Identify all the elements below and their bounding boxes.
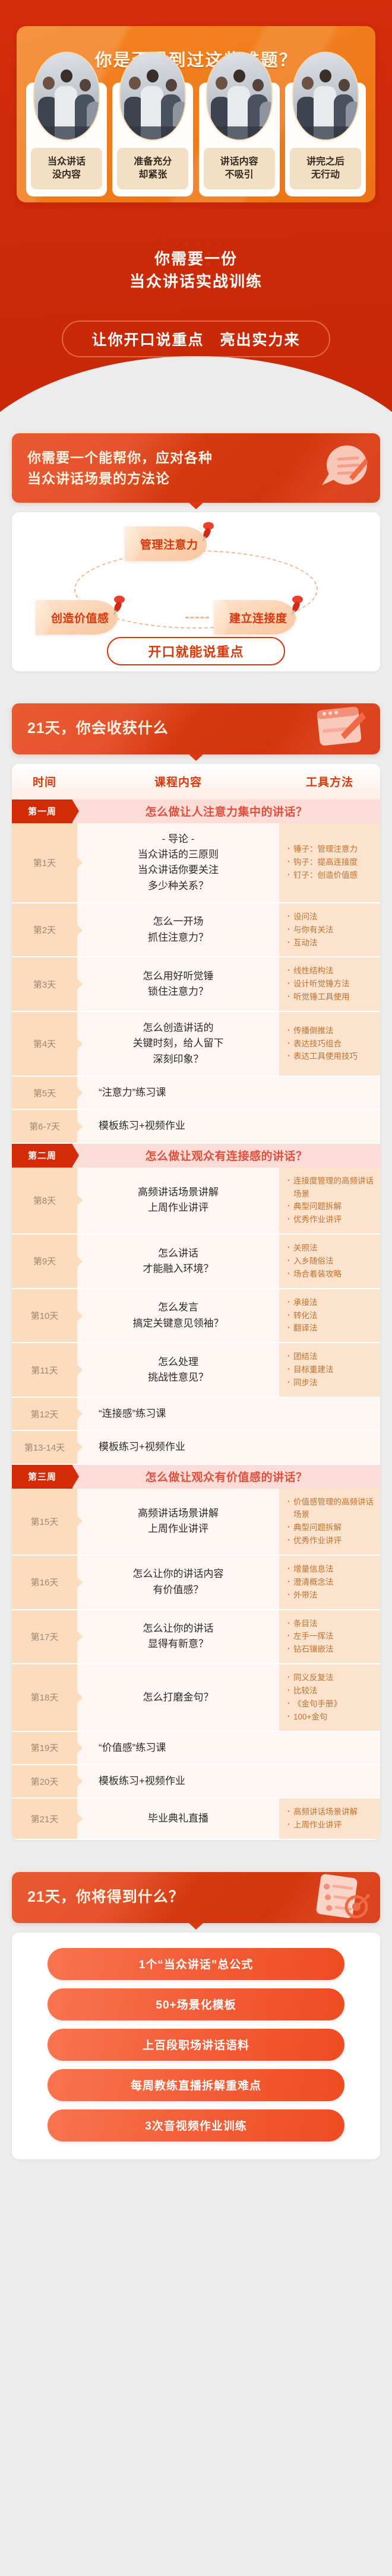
method-node-build-connection: 建立连接度 <box>214 600 296 635</box>
problem-photo <box>206 52 273 141</box>
schedule-content-cell: 高频讲话场景讲解上周作业讲评 <box>77 1489 279 1555</box>
schedule-row: 第12天“连接感”练习课 <box>12 1398 380 1431</box>
column-header-tools: 工具方法 <box>306 776 353 789</box>
gain-panel: 1个“当众讲话”总公式50+场景化模板上百段职场讲话语料每周教练直播拆解重难点3… <box>12 1933 380 2159</box>
benefit-item: 每周教练直播拆解重难点 <box>48 2069 344 2101</box>
tool-item: 澄清概念法 <box>287 1576 374 1589</box>
tool-item: 转化法 <box>287 1309 374 1322</box>
problem-card: 你是否遇到过这些难题？ 当众讲话没内容准备充分却紧张讲话内容不吸引讲完之后无行动 <box>17 26 375 202</box>
tool-item: 典型问题拆解 <box>287 1521 374 1534</box>
schedule-table: 时间 课程内容 工具方法 第一周怎么做让人注意力集中的讲话？第1天- 导论 -当… <box>12 764 380 1841</box>
schedule-content-line: 怎么处理 <box>148 1354 208 1370</box>
schedule-day-cell: 第15天 <box>12 1489 77 1555</box>
column-header-time: 时间 <box>33 776 56 789</box>
schedule-content-line: 怎么打磨金句？ <box>143 1690 214 1705</box>
method-node-label: 管理注意力 <box>140 536 198 552</box>
tool-item: 翻译法 <box>287 1322 374 1335</box>
benefit-list: 1个“当众讲话”总公式50+场景化模板上百段职场讲话语料每周教练直播拆解重难点3… <box>12 1933 380 2159</box>
problem-label-line1: 讲话内容 <box>220 156 258 169</box>
hero-headline-line1: 你需要一份 <box>0 248 392 271</box>
schedule-content-line: 模板练习+视频作业 <box>99 1439 185 1455</box>
schedule-tools-cell <box>279 1077 380 1109</box>
method-banner-line1: 你需要一个能帮你，应对各种 <box>27 450 213 465</box>
schedule-content-cell: 怎么创造讲话的关键时刻，给人留下深刻印象？ <box>77 1012 279 1076</box>
schedule-row: 第13-14天模板练习+视频作业 <box>12 1431 380 1464</box>
schedule-content-line: 怎么让你的讲话 <box>143 1621 214 1636</box>
schedule-tools-cell: 增量信息法澄清概念法外带法 <box>279 1556 380 1609</box>
schedule-section: 21天，你会收获什么 时间 课程内容 工具方法 第一周怎么做让人注意力集中的讲话… <box>0 686 392 1854</box>
tool-item: 优秀作业讲评 <box>287 1534 374 1547</box>
benefit-item: 3次音视频作业训练 <box>48 2109 344 2142</box>
schedule-tools-cell: 承接法转化法翻译法 <box>279 1289 380 1343</box>
schedule-row: 第9天怎么讲话才能融入环境？关照法入乡随俗法场合着装攻略 <box>12 1235 380 1289</box>
tool-item: 目标重建法 <box>287 1363 374 1376</box>
schedule-table-body: 第一周怎么做让人注意力集中的讲话？第1天- 导论 -当众讲话的三原则当众讲话你要… <box>12 800 380 1841</box>
tool-item: 条目法 <box>287 1617 374 1630</box>
schedule-content-line: 搞定关键意见领袖？ <box>133 1316 224 1331</box>
schedule-tools-cell: 团结法目标重建法同步法 <box>279 1343 380 1397</box>
tool-item: 关照法 <box>287 1242 374 1255</box>
hero-section: 你是否遇到过这些难题？ 当众讲话没内容准备充分却紧张讲话内容不吸引讲完之后无行动… <box>0 0 392 415</box>
method-node-manage-attention: 管理注意力 <box>125 526 207 561</box>
schedule-content-cell: “价值感”练习课 <box>77 1732 279 1764</box>
problem-label: 讲话内容不吸引 <box>204 148 275 189</box>
tool-item: 钉子：创造价值感 <box>287 869 374 882</box>
schedule-day-cell: 第12天 <box>12 1398 77 1430</box>
schedule-content-line: 关键时刻，给人留下 <box>133 1036 224 1051</box>
schedule-day-cell: 第6-7天 <box>12 1110 77 1142</box>
schedule-content-line: “注意力”练习课 <box>99 1085 166 1100</box>
tool-item: 价值感管理的高频讲话场景 <box>287 1496 374 1522</box>
week-header-row: 第三周怎么做让观众有价值感的讲话？ <box>12 1465 380 1489</box>
schedule-content-cell: 怎么讲话才能融入环境？ <box>77 1235 279 1288</box>
tool-item: 设问法 <box>287 911 374 924</box>
method-panel: 管理注意力 创造价值感 <box>12 512 380 671</box>
schedule-tools-cell <box>279 1732 380 1764</box>
tool-item: 增量信息法 <box>287 1563 374 1576</box>
schedule-content-line: 毕业典礼直播 <box>148 1811 208 1826</box>
tool-item: 场合着装攻略 <box>287 1268 374 1281</box>
schedule-content-line: 怎么一开场 <box>148 914 208 929</box>
schedule-content-cell: 模板练习+视频作业 <box>77 1765 279 1797</box>
schedule-content-cell: - 导论 -当众讲话的三原则当众讲话你要关注多少种关系？ <box>77 823 279 902</box>
tool-item: 团结法 <box>287 1350 374 1363</box>
problem-label-line2: 却紧张 <box>138 169 167 182</box>
column-header-content: 课程内容 <box>154 776 202 789</box>
schedule-row: 第8天高频讲话场景讲解上周作业讲评连接度管理的高频讲话场景典型问题拆解优秀作业讲… <box>12 1168 380 1235</box>
schedule-row: 第10天怎么发言搞定关键意见领袖？承接法转化法翻译法 <box>12 1289 380 1344</box>
schedule-row: 第2天怎么一开场抓住注意力？设问法与你有关法互动法 <box>12 903 380 958</box>
problem-label: 准备充分却紧张 <box>117 148 188 189</box>
week-title: 怎么做让人注意力集中的讲话？ <box>72 800 380 823</box>
schedule-tools-cell <box>279 1765 380 1797</box>
tool-item: 互动法 <box>287 937 374 950</box>
pin-icon <box>200 522 215 542</box>
schedule-content-line: 怎么创造讲话的 <box>133 1020 224 1036</box>
schedule-day-cell: 第13-14天 <box>12 1431 77 1463</box>
schedule-row: 第15天高频讲话场景讲解上周作业讲评价值感管理的高频讲话场景典型问题拆解优秀作业… <box>12 1489 380 1556</box>
week-title: 怎么做让观众有价值感的讲话？ <box>72 1465 380 1489</box>
schedule-content-cell: “注意力”练习课 <box>77 1077 279 1109</box>
schedule-banner-title: 21天，你会收获什么 <box>27 720 169 737</box>
problem-item: 准备充分却紧张 <box>112 83 193 196</box>
method-node-label: 建立连接度 <box>229 610 287 626</box>
gain-banner-title: 21天，你将得到什么？ <box>27 1889 184 1905</box>
tool-item: 左手一挥法 <box>287 1630 374 1643</box>
schedule-content-line: - 导论 - <box>138 832 219 847</box>
tool-item: 锤子：管理注意力 <box>287 843 374 856</box>
schedule-row: 第6-7天模板练习+视频作业 <box>12 1110 380 1143</box>
schedule-tools-cell <box>279 1110 380 1142</box>
schedule-content-line: 上周作业讲评 <box>138 1200 219 1216</box>
schedule-day-cell: 第3天 <box>12 957 77 1011</box>
schedule-content-line: 模板练习+视频作业 <box>99 1774 185 1789</box>
schedule-day-cell: 第17天 <box>12 1610 77 1664</box>
problem-label-line2: 不吸引 <box>225 169 254 182</box>
problem-label: 讲完之后无行动 <box>290 148 361 189</box>
triangle-dashed-connector <box>185 617 209 618</box>
schedule-content-line: 怎么讲话 <box>143 1246 214 1261</box>
schedule-day-cell: 第11天 <box>12 1343 77 1397</box>
tool-item: 100+金句 <box>287 1711 374 1724</box>
tool-item: 线性结构法 <box>287 965 374 978</box>
tool-item: 传播倒推法 <box>287 1024 374 1038</box>
schedule-tools-cell <box>279 1431 380 1463</box>
schedule-tools-cell: 高频讲话场景讲解上周作业讲评 <box>279 1798 380 1839</box>
week-tag: 第二周 <box>12 1144 72 1168</box>
banner-pointer <box>188 502 204 509</box>
schedule-content-cell: 毕业典礼直播 <box>77 1798 279 1839</box>
schedule-content-line: 怎么让你的讲话内容 <box>133 1566 224 1582</box>
schedule-content-line: 高频讲话场景讲解 <box>138 1185 219 1200</box>
tool-item: 连接度管理的高频讲话场景 <box>287 1175 374 1201</box>
schedule-content-cell: 高频讲话场景讲解上周作业讲评 <box>77 1168 279 1233</box>
tool-item: 入乡随俗法 <box>287 1255 374 1268</box>
schedule-content-cell: 怎么用好听觉锤锁住注意力？ <box>77 957 279 1011</box>
schedule-day-cell: 第4天 <box>12 1012 77 1076</box>
problem-label-line1: 准备充分 <box>134 156 172 169</box>
schedule-content-line: “价值感”练习课 <box>99 1740 166 1756</box>
method-section: 你需要一个能帮你，应对各种 当众讲话场景的方法论 管理注意力 <box>0 415 392 686</box>
tool-item: 钻石镶嵌法 <box>287 1643 374 1656</box>
pin-icon <box>110 595 126 616</box>
problem-label: 当众讲话没内容 <box>31 148 102 189</box>
schedule-tools-cell: 锤子：管理注意力钩子：提高连接度钉子：创造价值感 <box>279 823 380 902</box>
schedule-row: 第3天怎么用好听觉锤锁住注意力？线性结构法设计听觉锤方法听觉锤工具使用 <box>12 957 380 1012</box>
benefit-item: 1个“当众讲话”总公式 <box>48 1948 344 1980</box>
problem-item-list: 当众讲话没内容准备充分却紧张讲话内容不吸引讲完之后无行动 <box>26 83 366 196</box>
schedule-row: 第20天模板练习+视频作业 <box>12 1765 380 1798</box>
problem-item: 当众讲话没内容 <box>26 83 107 196</box>
problem-photo <box>33 52 100 141</box>
schedule-banner: 21天，你会收获什么 <box>12 703 380 754</box>
week-tag: 第三周 <box>12 1465 72 1489</box>
schedule-content-cell: “连接感”练习课 <box>77 1398 279 1430</box>
problem-item: 讲话内容不吸引 <box>199 83 280 196</box>
notebook-pencil-icon <box>311 702 371 755</box>
problem-photo <box>119 52 186 141</box>
schedule-row: 第11天怎么处理挑战性意见？团结法目标重建法同步法 <box>12 1343 380 1398</box>
schedule-content-line: 模板练习+视频作业 <box>99 1118 185 1134</box>
schedule-tools-cell: 连接度管理的高频讲话场景典型问题拆解优秀作业讲评 <box>279 1168 380 1233</box>
schedule-content-line: 才能融入环境？ <box>143 1261 214 1277</box>
checklist-target-icon <box>309 1871 371 1924</box>
schedule-row: 第16天怎么让你的讲话内容有价值感？增量信息法澄清概念法外带法 <box>12 1556 380 1610</box>
tool-item: 同步法 <box>287 1376 374 1389</box>
schedule-content-cell: 怎么让你的讲话内容有价值感？ <box>77 1556 279 1609</box>
tool-item: 承接法 <box>287 1296 374 1309</box>
method-cta: 开口就能说重点 <box>107 637 285 665</box>
problem-label-line2: 没内容 <box>52 169 81 182</box>
schedule-content-cell: 怎么一开场抓住注意力？ <box>77 903 279 957</box>
problem-item: 讲完之后无行动 <box>285 83 366 196</box>
schedule-content-line: “连接感”练习课 <box>99 1406 166 1422</box>
tool-item: 优秀作业讲评 <box>287 1213 374 1226</box>
tool-item: 外带法 <box>287 1589 374 1602</box>
problem-label-line2: 无行动 <box>311 169 340 182</box>
tool-item: 上周作业讲评 <box>287 1819 374 1832</box>
gain-section: 21天，你将得到什么？ 1个“当众讲话”总公式 <box>0 1854 392 2187</box>
schedule-content-cell: 怎么处理挑战性意见？ <box>77 1343 279 1397</box>
schedule-table-header: 时间 课程内容 工具方法 <box>12 764 380 800</box>
schedule-content-line: 挑战性意见？ <box>148 1370 208 1385</box>
hero-slogan-pill: 让你开口说重点 亮出实力来 <box>62 321 330 357</box>
tool-item: 听觉锤工具使用 <box>287 991 374 1004</box>
schedule-content-cell: 模板练习+视频作业 <box>77 1110 279 1142</box>
schedule-day-cell: 第19天 <box>12 1732 77 1764</box>
hero-bottom-curve <box>0 356 392 415</box>
tool-item: 与你有关法 <box>287 924 374 937</box>
schedule-content-line: 显得有新意？ <box>143 1636 214 1652</box>
schedule-content-cell: 模板练习+视频作业 <box>77 1431 279 1463</box>
schedule-day-cell: 第16天 <box>12 1556 77 1609</box>
method-node-create-value: 创造价值感 <box>36 600 118 635</box>
tool-item: 比较法 <box>287 1684 374 1698</box>
schedule-day-cell: 第1天 <box>12 823 77 902</box>
week-tag: 第一周 <box>12 800 72 823</box>
banner-pointer <box>188 754 204 761</box>
schedule-tools-cell: 关照法入乡随俗法场合着装攻略 <box>279 1235 380 1288</box>
schedule-content-cell: 怎么发言搞定关键意见领袖？ <box>77 1289 279 1343</box>
banner-pointer <box>188 1923 204 1930</box>
method-node-label: 创造价值感 <box>51 610 109 626</box>
schedule-content-line: 锁住注意力？ <box>143 984 214 1000</box>
tool-item: 钩子：提高连接度 <box>287 856 374 869</box>
week-title: 怎么做让观众有连接感的讲话？ <box>72 1144 380 1168</box>
schedule-tools-cell: 价值感管理的高频讲话场景典型问题拆解优秀作业讲评 <box>279 1489 380 1555</box>
week-header-row: 第一周怎么做让人注意力集中的讲话？ <box>12 800 380 823</box>
hero-headline: 你需要一份 当众讲话实战训练 <box>0 248 392 293</box>
schedule-row: 第5天“注意力”练习课 <box>12 1077 380 1110</box>
benefit-item: 上百段职场讲话语料 <box>48 2029 344 2061</box>
problem-photo <box>292 52 359 141</box>
schedule-row: 第18天怎么打磨金句？同义反复法比较法《金句手册》100+金句 <box>12 1664 380 1731</box>
tool-item: 表达技巧组合 <box>287 1038 374 1051</box>
schedule-content-line: 高频讲话场景讲解 <box>138 1506 219 1521</box>
schedule-tools-cell: 设问法与你有关法互动法 <box>279 903 380 957</box>
schedule-day-cell: 第20天 <box>12 1765 77 1797</box>
schedule-day-cell: 第18天 <box>12 1664 77 1730</box>
schedule-content-line: 抓住注意力？ <box>148 930 208 946</box>
schedule-row: 第4天怎么创造讲话的关键时刻，给人留下深刻印象？传播倒推法表达技巧组合表达工具使… <box>12 1012 380 1077</box>
problem-label-line1: 讲完之后 <box>306 156 344 169</box>
schedule-day-cell: 第10天 <box>12 1289 77 1343</box>
tool-item: 设计听觉锤方法 <box>287 978 374 991</box>
gain-banner: 21天，你将得到什么？ <box>12 1872 380 1923</box>
tool-item: 高频讲话场景讲解 <box>287 1806 374 1819</box>
schedule-content-cell: 怎么打磨金句？ <box>77 1664 279 1730</box>
tool-item: 《金句手册》 <box>287 1698 374 1711</box>
schedule-content-line: 有价值感？ <box>133 1582 224 1598</box>
schedule-tools-cell: 条目法左手一挥法钻石镶嵌法 <box>279 1610 380 1664</box>
schedule-tools-cell: 线性结构法设计听觉锤方法听觉锤工具使用 <box>279 957 380 1011</box>
pin-icon <box>289 595 304 616</box>
schedule-content-line: 深刻印象？ <box>133 1052 224 1067</box>
benefit-item: 50+场景化模板 <box>48 1988 344 2020</box>
method-triangle-diagram: 管理注意力 创造价值感 <box>12 512 380 671</box>
week-header-row: 第二周怎么做让观众有连接感的讲话？ <box>12 1144 380 1168</box>
tool-item: 典型问题拆解 <box>287 1200 374 1213</box>
schedule-tools-cell <box>279 1398 380 1430</box>
schedule-day-cell: 第5天 <box>12 1077 77 1109</box>
schedule-content-line: 当众讲话的三原则 <box>138 847 219 862</box>
schedule-content-cell: 怎么让你的讲话显得有新意？ <box>77 1610 279 1664</box>
schedule-content-line: 当众讲话你要关注 <box>138 862 219 878</box>
schedule-row: 第19天“价值感”练习课 <box>12 1732 380 1765</box>
tool-item: 表达工具使用技巧 <box>287 1050 374 1063</box>
schedule-content-line: 多少种关系？ <box>138 878 219 894</box>
schedule-content-line: 上周作业讲评 <box>138 1521 219 1537</box>
hero-headline-line2: 当众讲话实战训练 <box>0 271 392 293</box>
schedule-row: 第21天毕业典礼直播高频讲话场景讲解上周作业讲评 <box>12 1798 380 1840</box>
tool-item: 同义反复法 <box>287 1671 374 1684</box>
schedule-tools-cell: 同义反复法比较法《金句手册》100+金句 <box>279 1664 380 1730</box>
schedule-tools-cell: 传播倒推法表达技巧组合表达工具使用技巧 <box>279 1012 380 1076</box>
schedule-row: 第17天怎么让你的讲话显得有新意？条目法左手一挥法钻石镶嵌法 <box>12 1610 380 1665</box>
schedule-content-line: 怎么用好听觉锤 <box>143 969 214 984</box>
schedule-row: 第1天- 导论 -当众讲话的三原则当众讲话你要关注多少种关系？锤子：管理注意力钩… <box>12 823 380 903</box>
schedule-day-cell: 第9天 <box>12 1235 77 1288</box>
problem-label-line1: 当众讲话 <box>48 156 86 169</box>
schedule-day-cell: 第21天 <box>12 1798 77 1839</box>
schedule-day-cell: 第8天 <box>12 1168 77 1233</box>
schedule-day-cell: 第2天 <box>12 903 77 957</box>
schedule-content-line: 怎么发言 <box>133 1300 224 1315</box>
speech-bubble-icon <box>314 441 371 495</box>
method-banner: 你需要一个能帮你，应对各种 当众讲话场景的方法论 <box>12 433 380 503</box>
